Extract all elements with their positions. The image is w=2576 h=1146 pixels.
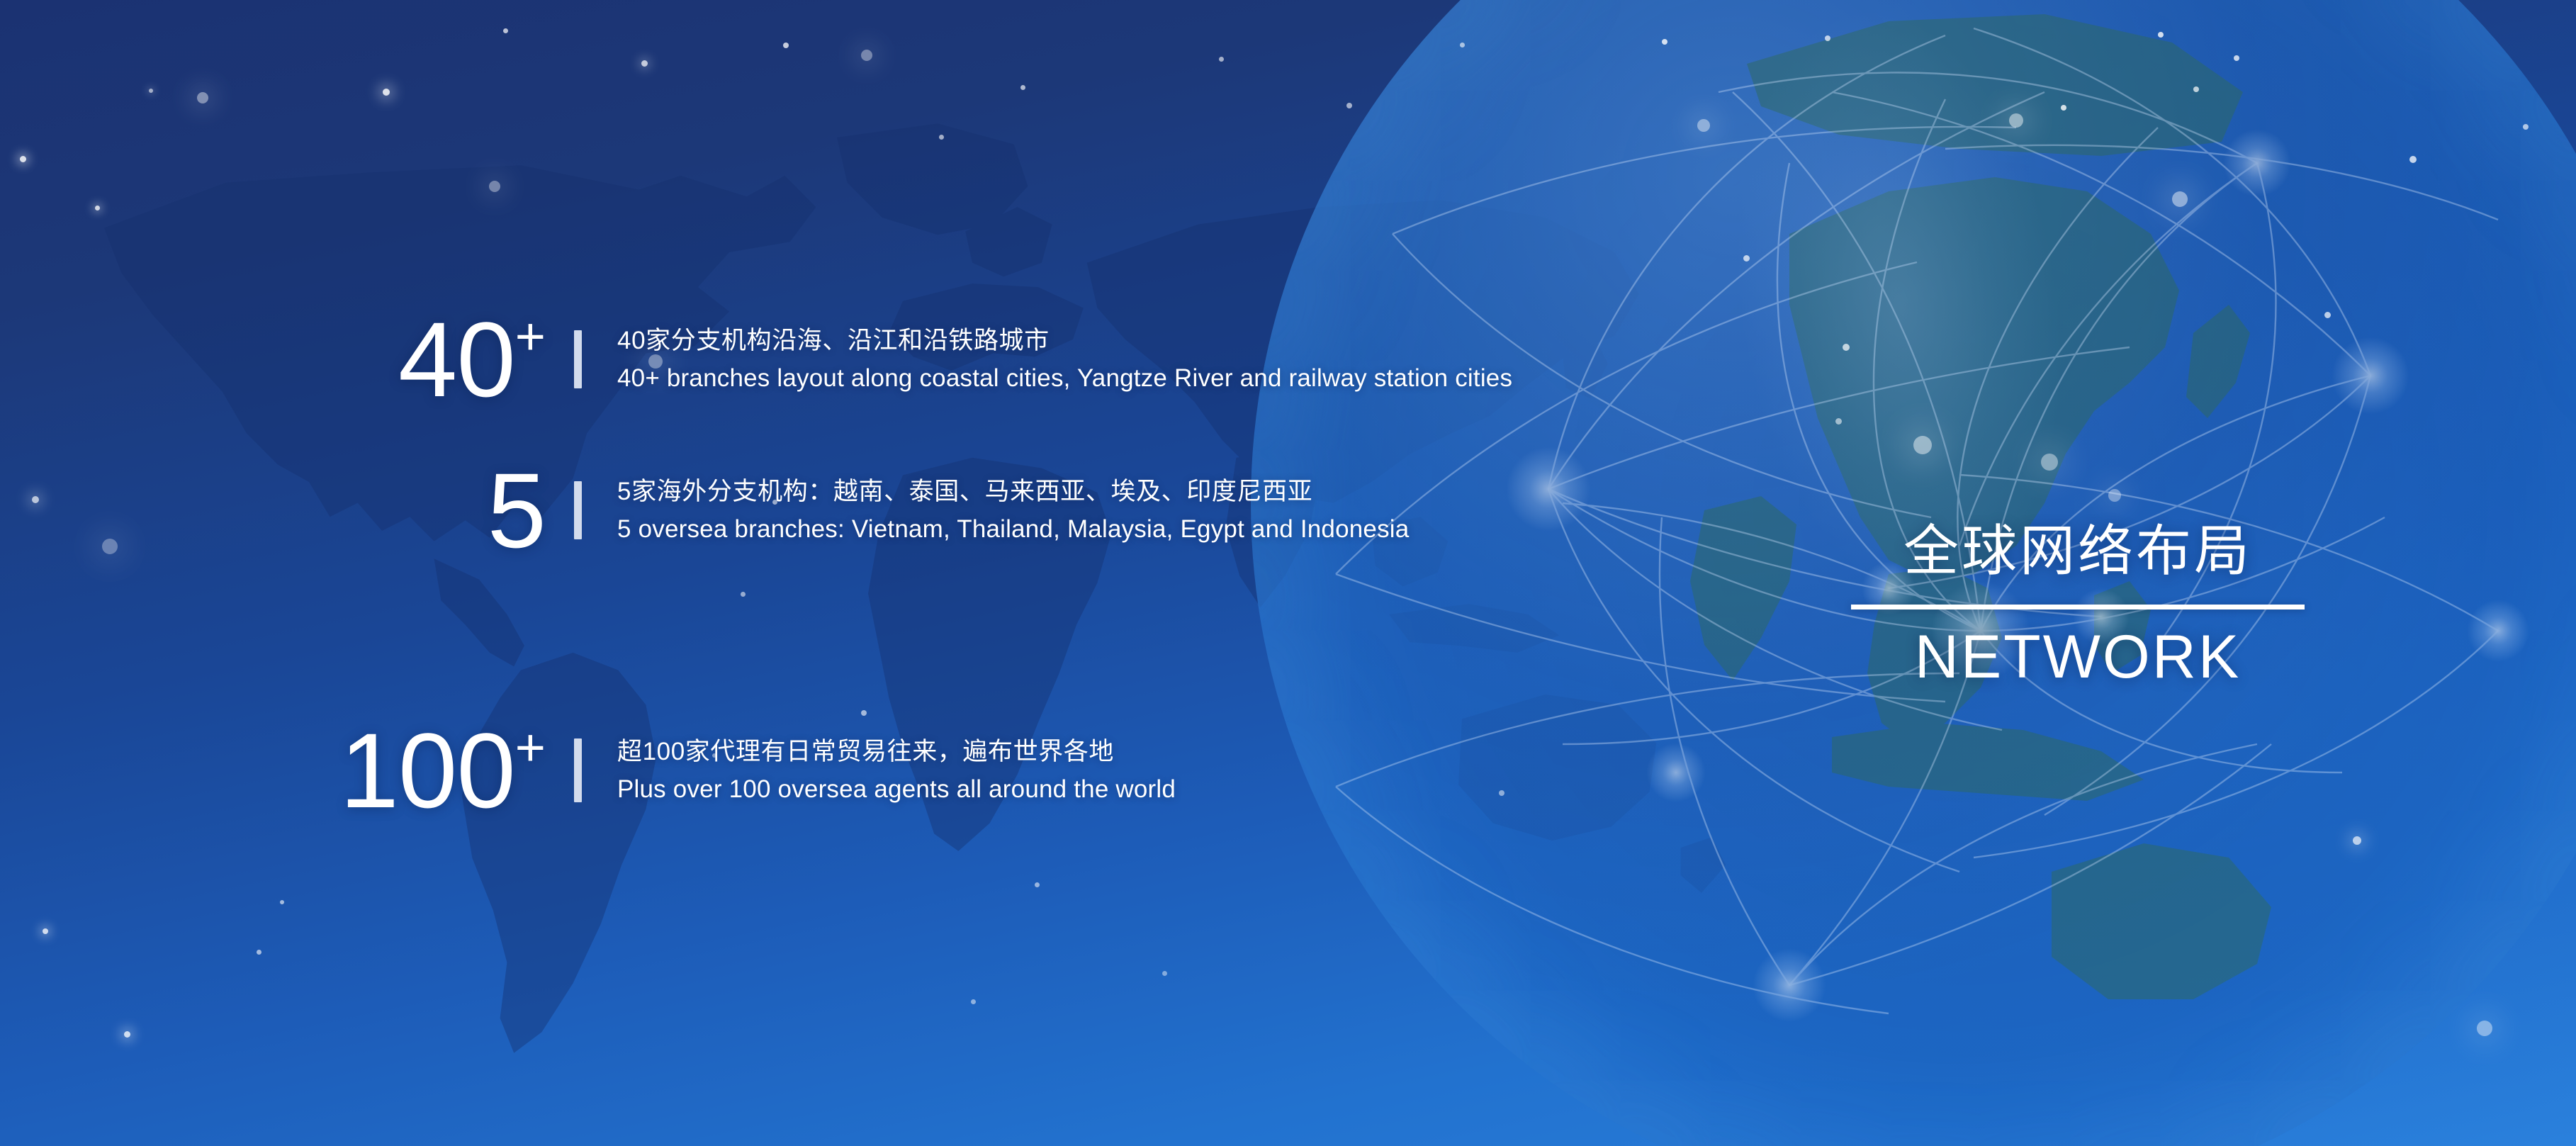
- stat-divider-bar: [574, 481, 582, 539]
- stat-text-cn: 5家海外分支机构：越南、泰国、马来西亚、埃及、印度尼西亚: [617, 473, 1409, 510]
- stat-divider-bar: [574, 330, 582, 388]
- network-banner: 40+ 40家分支机构沿海、沿江和沿铁路城市 40+ branches layo…: [0, 0, 2576, 1146]
- stat-number-value: 5: [488, 451, 546, 570]
- stat-number-value: 40: [398, 300, 515, 419]
- stat-row: 5 5家海外分支机构：越南、泰国、马来西亚、埃及、印度尼西亚 5 oversea…: [0, 457, 1409, 563]
- stat-text-en: 40+ branches layout along coastal cities…: [617, 359, 1512, 397]
- stat-row: 100+ 超100家代理有日常贸易往来，遍布世界各地 Plus over 100…: [0, 717, 1176, 824]
- stat-number: 40+: [0, 306, 546, 412]
- stat-text-cn: 40家分支机构沿海、沿江和沿铁路城市: [617, 322, 1512, 359]
- network-title-rule: [1851, 605, 2305, 609]
- stat-text-en: 5 oversea branches: Vietnam, Thailand, M…: [617, 510, 1409, 548]
- stat-number: 100+: [0, 717, 546, 824]
- stat-text-en: Plus over 100 oversea agents all around …: [617, 770, 1176, 808]
- stat-text-cn: 超100家代理有日常贸易往来，遍布世界各地: [617, 733, 1176, 770]
- network-title-cn: 全球网络布局: [1851, 521, 2305, 580]
- stat-number-value: 100: [340, 711, 515, 830]
- stat-number-suffix: +: [515, 307, 546, 366]
- stat-number: 5: [0, 457, 546, 563]
- stat-divider-bar: [574, 738, 582, 802]
- stats-list: 40+ 40家分支机构沿海、沿江和沿铁路城市 40+ branches layo…: [0, 0, 1630, 1146]
- network-title-en: NETWORK: [1851, 625, 2305, 689]
- network-title-block: 全球网络布局 NETWORK: [1851, 521, 2305, 690]
- stat-row: 40+ 40家分支机构沿海、沿江和沿铁路城市 40+ branches layo…: [0, 306, 1512, 412]
- stat-number-suffix: +: [515, 718, 546, 777]
- stat-text: 40家分支机构沿海、沿江和沿铁路城市 40+ branches layout a…: [617, 322, 1512, 397]
- stat-text: 超100家代理有日常贸易往来，遍布世界各地 Plus over 100 over…: [617, 733, 1176, 808]
- stat-text: 5家海外分支机构：越南、泰国、马来西亚、埃及、印度尼西亚 5 oversea b…: [617, 473, 1409, 548]
